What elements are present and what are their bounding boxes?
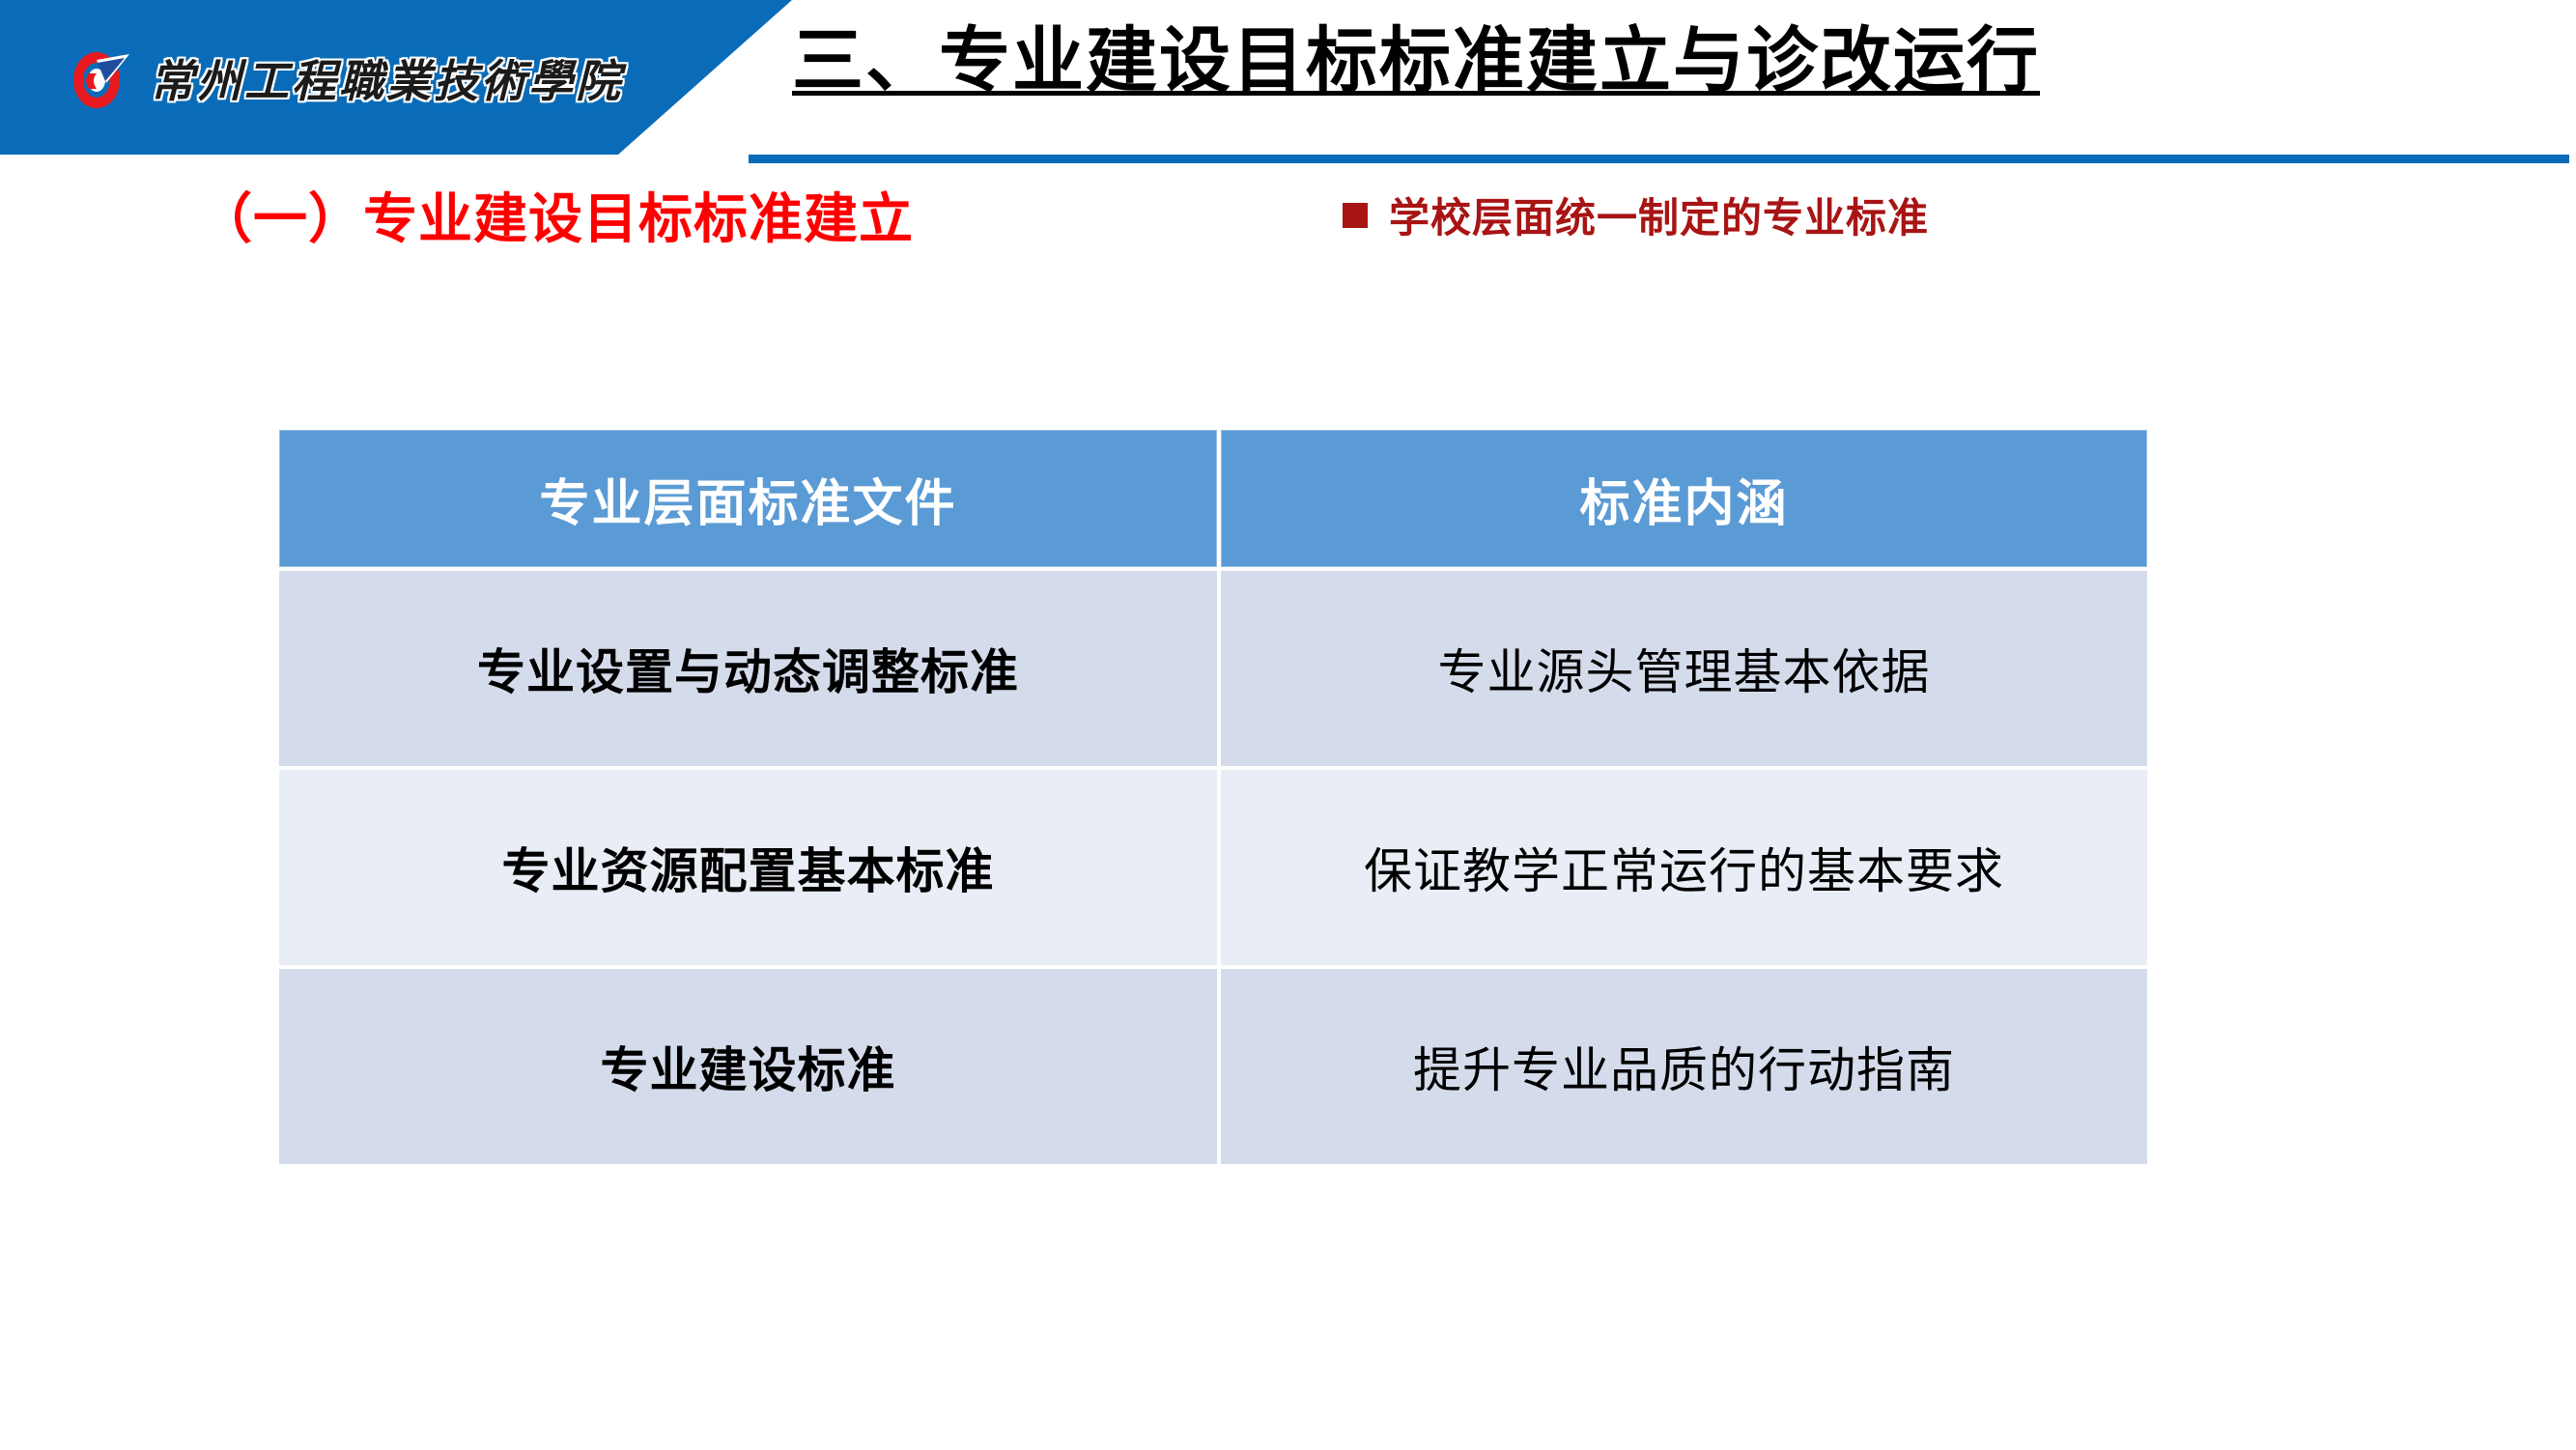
page-title: 三、专业建设目标标准建立与诊改运行: [792, 21, 2531, 100]
title-divider-line: [749, 155, 2569, 163]
institution-name: 常州工程職業技術學院: [150, 46, 623, 110]
table-row: 专业建设标准 提升专业品质的行动指南: [277, 967, 2149, 1166]
slide-canvas: 常州工程職業技術學院 三、专业建设目标标准建立与诊改运行 （一）专业建设目标标准…: [0, 0, 2576, 1450]
standards-table: 专业层面标准文件 标准内涵 专业设置与动态调整标准 专业源头管理基本依据 专业资…: [277, 428, 2149, 1166]
cell-meaning: 专业源头管理基本依据: [1219, 569, 2149, 768]
table-row: 专业设置与动态调整标准 专业源头管理基本依据: [277, 569, 2149, 768]
cell-document: 专业资源配置基本标准: [277, 768, 1219, 967]
university-crest-icon: [71, 50, 133, 110]
cell-document: 专业建设标准: [277, 967, 1219, 1166]
cell-meaning: 提升专业品质的行动指南: [1219, 967, 2149, 1166]
table-header-row: 专业层面标准文件 标准内涵: [277, 428, 2149, 569]
column-header-meaning: 标准内涵: [1219, 428, 2149, 569]
cell-meaning: 保证教学正常运行的基本要求: [1219, 768, 2149, 967]
section-label: （一）专业建设目标标准建立: [198, 176, 914, 254]
column-header-document: 专业层面标准文件: [277, 428, 1219, 569]
table-row: 专业资源配置基本标准 保证教学正常运行的基本要求: [277, 768, 2149, 967]
section-bullet-text: 学校层面统一制定的专业标准: [1389, 185, 1929, 244]
page-title-underline: 三、专业建设目标标准建立与诊改运行: [792, 20, 2040, 100]
section-bullet-note: 学校层面统一制定的专业标准: [1343, 185, 1929, 244]
filled-square-bullet-icon: [1343, 203, 1368, 228]
cell-document: 专业设置与动态调整标准: [277, 569, 1219, 768]
